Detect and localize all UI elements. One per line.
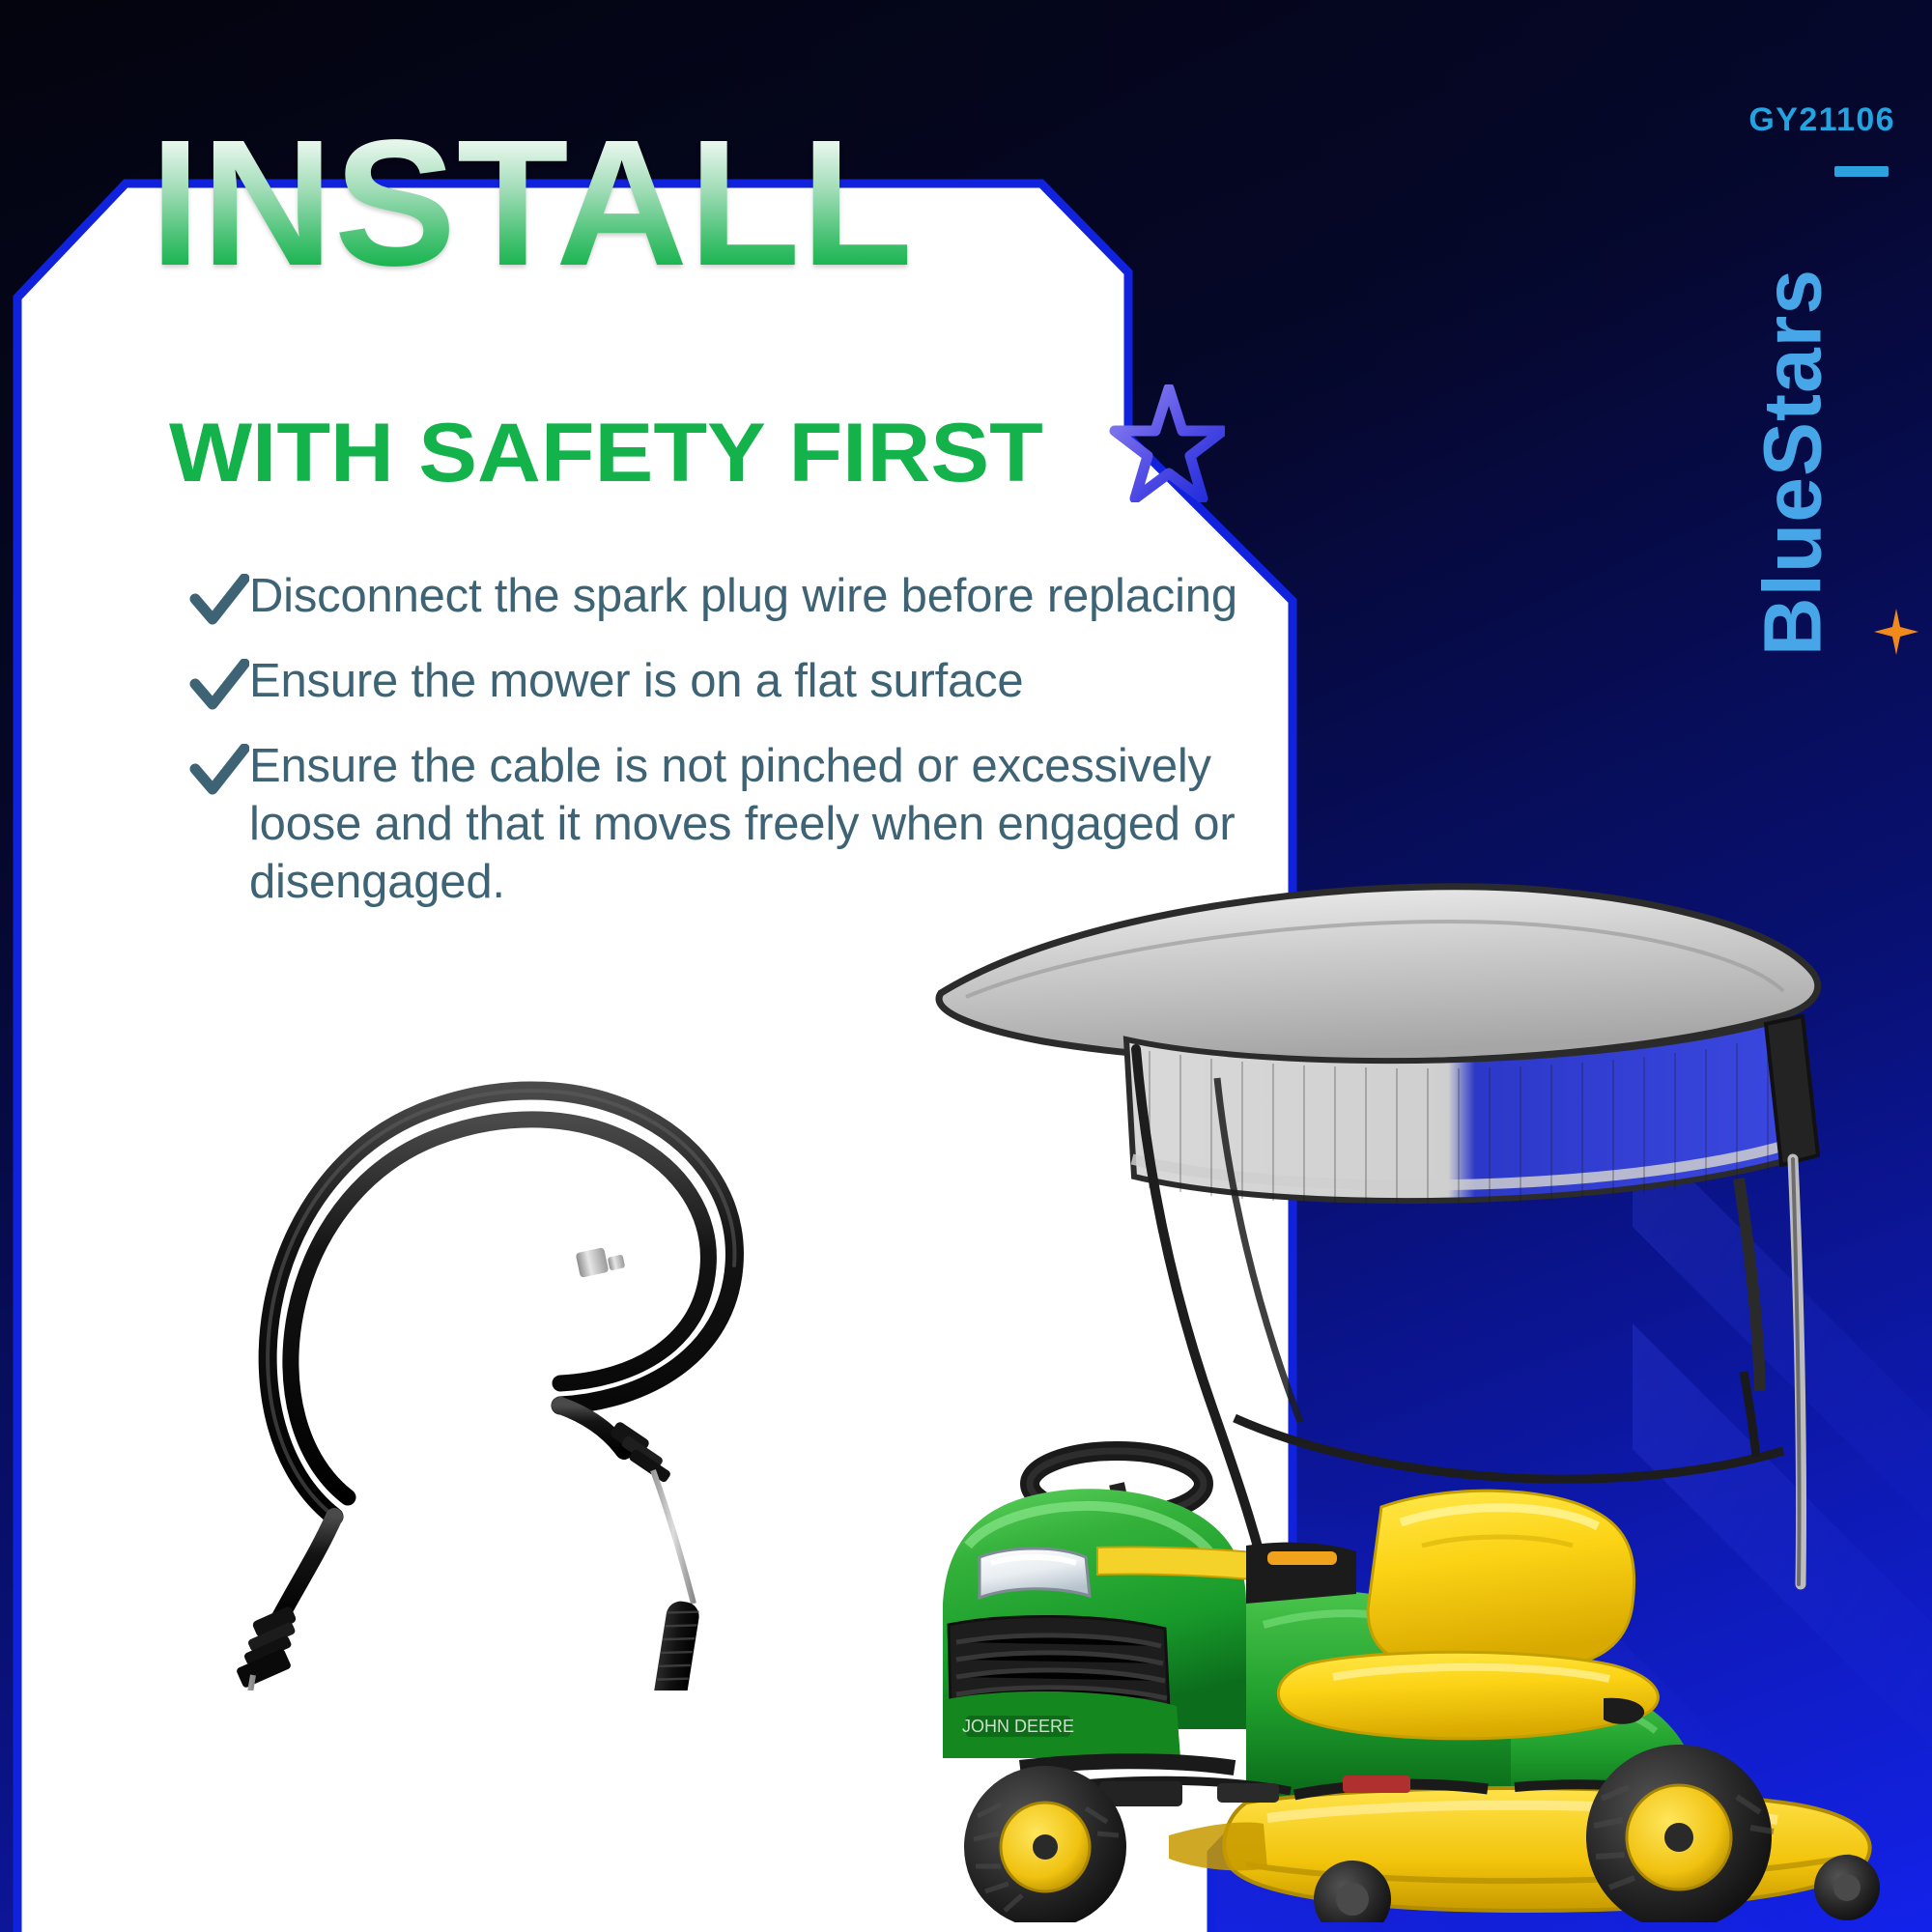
mower-drive-control-cable: [106, 976, 811, 1690]
checkmark-icon: [189, 659, 249, 715]
checkmark-icon: [189, 574, 249, 630]
page-subtitle: WITH SAFETY FIRST: [169, 406, 1043, 501]
sparkle-icon: [1874, 609, 1918, 655]
list-item: Ensure the mower is on a flat surface: [189, 653, 1262, 715]
part-number: GY21106: [1748, 101, 1895, 139]
rear-wheel: [1586, 1745, 1774, 1922]
page-title: INSTALL: [150, 118, 913, 291]
dash-divider: [1834, 166, 1889, 177]
infographic-canvas: INSTALL WITH SAFETY FIRST Disconnect the…: [0, 0, 1932, 1932]
list-item-label: Ensure the mower is on a flat surface: [249, 653, 1023, 711]
cable-ferrule: [576, 1247, 626, 1278]
svg-text:JOHN DEERE: JOHN DEERE: [962, 1717, 1074, 1736]
deck-caster-wheel-rear: [1814, 1855, 1880, 1920]
cable-end-fitting-left: [236, 1605, 298, 1689]
extension-spring: [576, 1592, 700, 1690]
riding-lawn-mower-with-canopy: JOHN DEERE: [927, 869, 1922, 1922]
list-item-label: Disconnect the spark plug wire before re…: [249, 568, 1237, 626]
checkmark-icon: [189, 744, 249, 800]
brand-logo-text: BlueStars: [1747, 260, 1840, 666]
star-icon: [1109, 384, 1225, 502]
front-wheel: [964, 1766, 1126, 1922]
list-item: Disconnect the spark plug wire before re…: [189, 568, 1262, 630]
